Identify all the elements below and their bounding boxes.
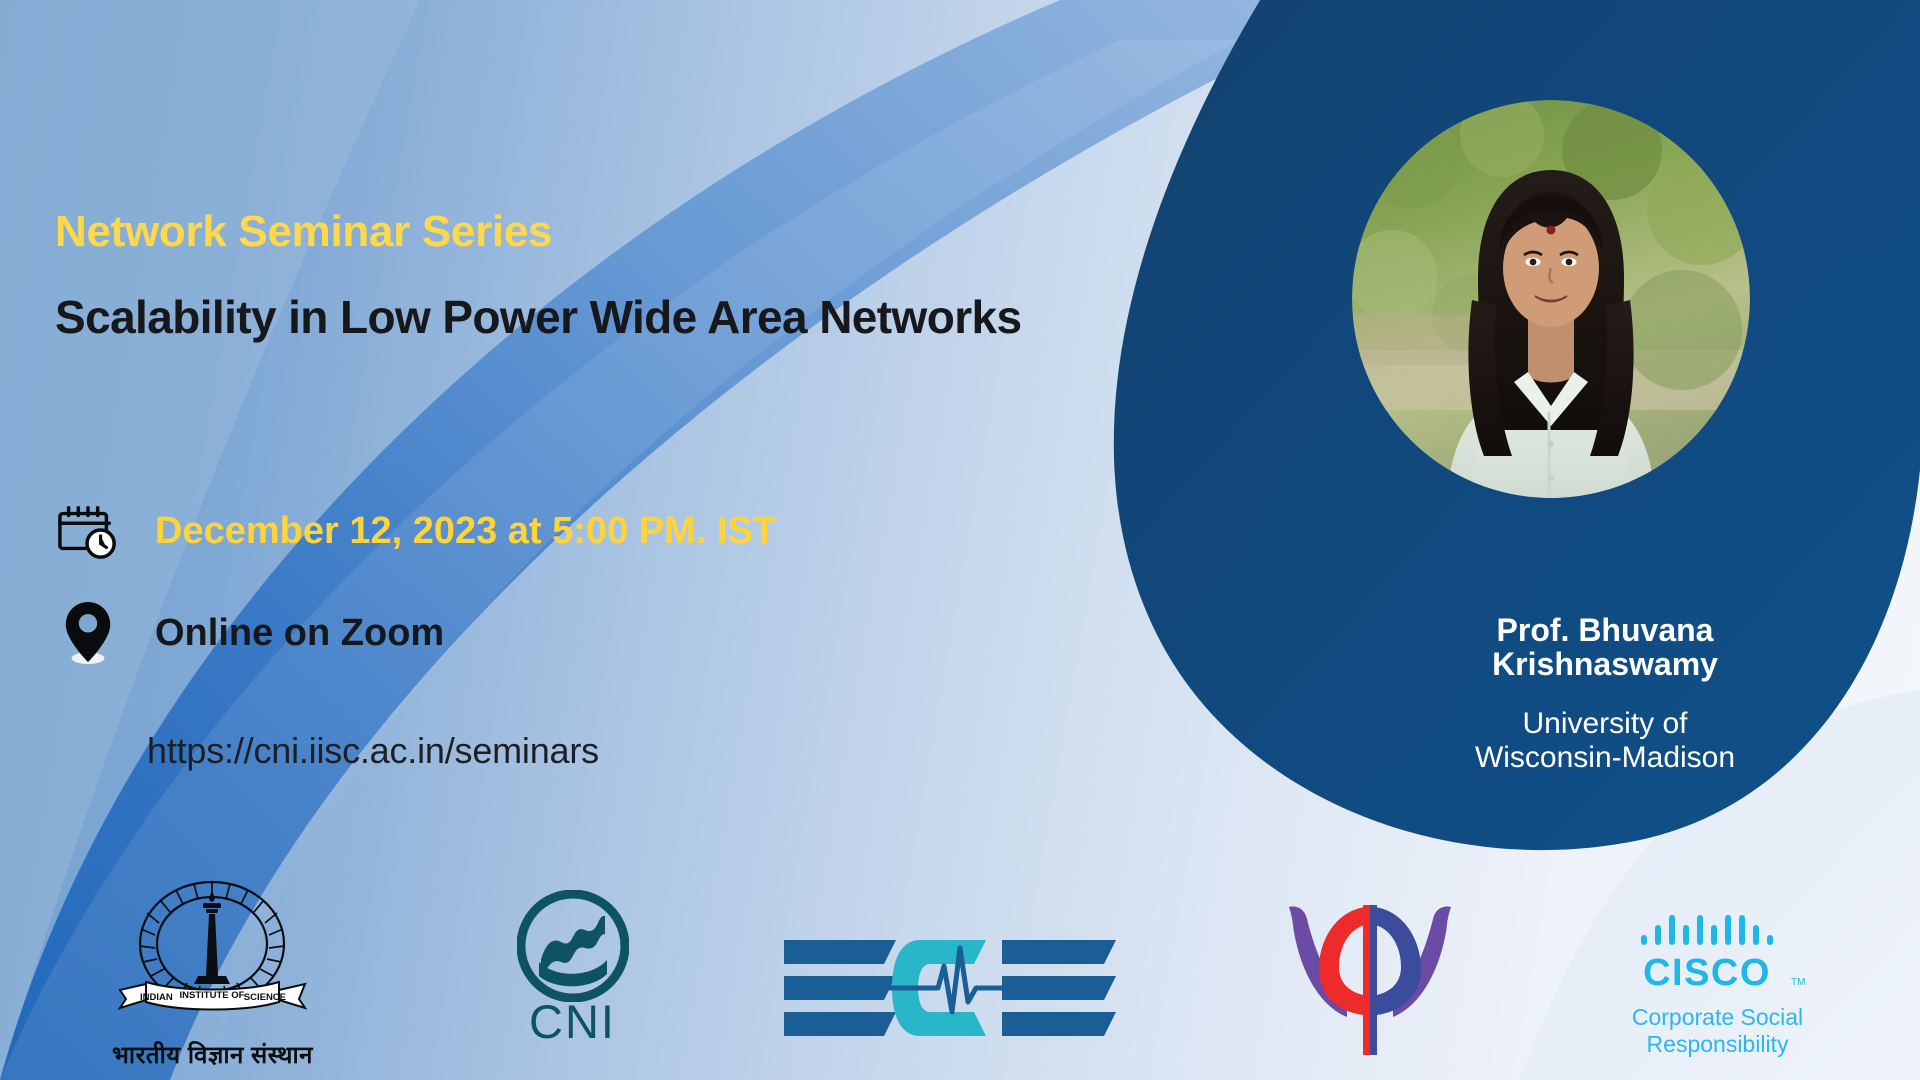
venue-text: Online on Zoom	[155, 612, 444, 655]
venue-row: Online on Zoom	[55, 600, 444, 666]
cisco-trademark: TM	[1791, 977, 1805, 988]
psi-logo	[1285, 895, 1455, 1060]
iisc-banner-right: SCIENCE	[244, 992, 286, 1003]
date-row: December 12, 2023 at 5:00 PM. IST	[55, 500, 776, 562]
speaker-affiliation-line1: University of	[1385, 707, 1825, 741]
iisc-logo: INDIAN INSTITUTE OF SCIENCE भारतीय विज्ञ…	[110, 872, 315, 1071]
page-title: Scalability in Low Power Wide Area Netwo…	[55, 290, 1021, 344]
calendar-clock-icon	[55, 500, 121, 562]
speaker-name-line2: Krishnaswamy	[1395, 647, 1815, 681]
ece-logo	[780, 930, 1120, 1045]
speaker-name: Prof. Bhuvana Krishnaswamy	[1395, 613, 1815, 681]
cisco-wordmark: CISCO	[1643, 952, 1771, 994]
speaker-photo	[1352, 100, 1750, 498]
map-pin-icon	[55, 600, 121, 666]
seminar-poster: Network Seminar Series Scalability in Lo…	[0, 0, 1920, 1080]
seminar-url[interactable]: https://cni.iisc.ac.in/seminars	[147, 730, 599, 772]
iisc-emblem: INDIAN INSTITUTE OF SCIENCE	[110, 872, 315, 1037]
speaker-affiliation-line2: Wisconsin-Madison	[1385, 741, 1825, 775]
psi-emblem	[1285, 895, 1455, 1060]
cni-logo: CNI	[495, 890, 650, 1045]
speaker-affiliation: University of Wisconsin-Madison	[1385, 707, 1825, 774]
date-text: December 12, 2023 at 5:00 PM. IST	[155, 510, 776, 553]
speaker-name-line1: Prof. Bhuvana	[1395, 613, 1815, 647]
cisco-tagline-line2: Responsibility	[1632, 1031, 1803, 1058]
ece-emblem	[780, 930, 1120, 1045]
iisc-banner-center: INSTITUTE OF	[180, 990, 245, 1001]
cisco-tagline: Corporate Social Responsibility	[1632, 1004, 1803, 1058]
cni-emblem	[517, 890, 629, 1002]
cni-wordmark: CNI	[529, 998, 616, 1045]
cisco-emblem: CISCO TM	[1623, 905, 1813, 997]
iisc-hindi-text: भारतीय विज्ञान संस्थान	[112, 1038, 313, 1071]
iisc-banner-left: INDIAN	[140, 992, 173, 1003]
cisco-tagline-line1: Corporate Social	[1632, 1004, 1803, 1031]
cisco-logo: CISCO TM Corporate Social Responsibility	[1615, 905, 1820, 1058]
series-eyebrow: Network Seminar Series	[55, 207, 552, 257]
